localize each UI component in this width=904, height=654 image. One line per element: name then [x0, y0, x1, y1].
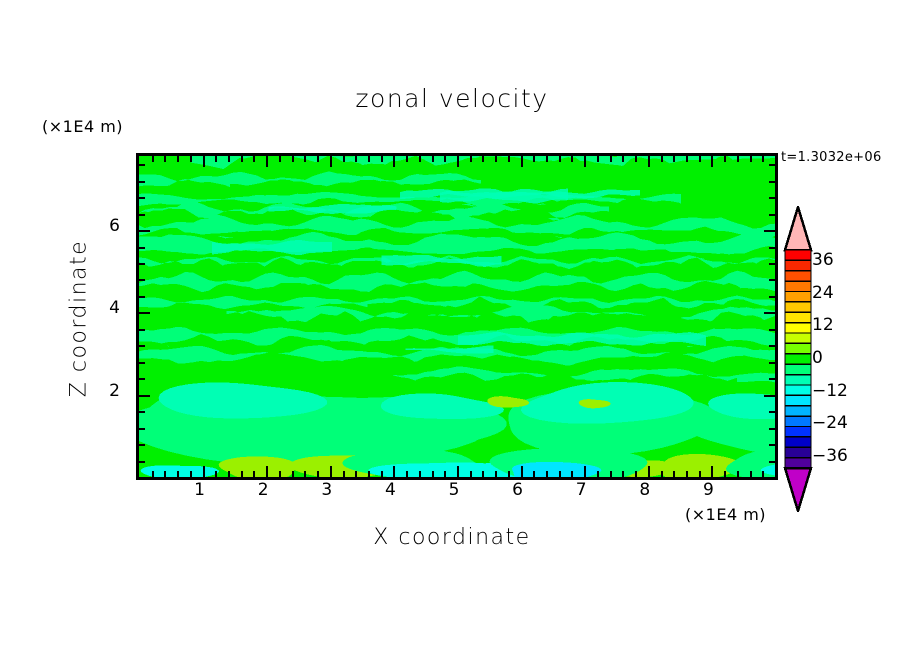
x-minor-tick-top [622, 156, 624, 162]
x-major-tick [584, 466, 586, 477]
x-minor-tick [432, 471, 434, 477]
y-minor-tick-right [769, 214, 775, 216]
y-major-tick-right [764, 312, 775, 314]
x-minor-tick [699, 471, 701, 477]
y-minor-tick-right [769, 461, 775, 463]
y-tick-label: 4 [90, 298, 120, 318]
x-major-tick [457, 466, 459, 477]
x-minor-tick-top [737, 156, 739, 162]
x-minor-tick-top [470, 156, 472, 162]
x-minor-tick-top [597, 156, 599, 162]
colorbar-tick-label: 0 [812, 348, 823, 368]
y-minor-tick [139, 362, 145, 364]
x-minor-tick-top [419, 156, 421, 162]
colorbar-swatches [782, 206, 814, 512]
y-minor-tick [139, 214, 145, 216]
y-minor-tick-right [769, 428, 775, 430]
x-minor-tick-top [444, 156, 446, 162]
x-minor-tick-top [253, 156, 255, 162]
y-minor-tick [139, 181, 145, 183]
y-minor-tick-right [769, 263, 775, 265]
x-major-tick [648, 466, 650, 477]
y-minor-tick [139, 197, 145, 199]
y-minor-tick [139, 345, 145, 347]
x-minor-tick [533, 471, 535, 477]
y-tick-label: 2 [90, 381, 120, 401]
x-minor-tick-top [152, 156, 154, 162]
colorbar-tick-label: 36 [812, 250, 834, 270]
y-major-tick [139, 312, 150, 314]
x-minor-tick [546, 471, 548, 477]
x-major-tick [711, 466, 713, 477]
y-minor-tick-right [769, 378, 775, 380]
colorbar-band [785, 312, 811, 323]
x-major-tick-top [584, 156, 586, 167]
x-tick-label: 8 [630, 480, 660, 500]
y-axis-unit-label: (×1E4 m) [42, 117, 123, 136]
x-minor-tick-top [661, 156, 663, 162]
colorbar-band [785, 406, 811, 417]
page-title: zonal velocity [0, 84, 904, 113]
y-major-tick-right [764, 395, 775, 397]
y-minor-tick [139, 329, 145, 331]
x-major-tick-top [330, 156, 332, 167]
x-minor-tick [241, 471, 243, 477]
colorbar-tick-label: −36 [812, 446, 848, 466]
colorbar-band [785, 447, 811, 458]
x-minor-tick [559, 471, 561, 477]
x-major-tick [393, 466, 395, 477]
x-major-tick-top [203, 156, 205, 167]
x-minor-tick-top [610, 156, 612, 162]
x-minor-tick [406, 471, 408, 477]
x-minor-tick-top [686, 156, 688, 162]
colorbar-tick-label: −12 [812, 381, 848, 401]
x-tick-label: 3 [312, 480, 342, 500]
x-minor-tick [381, 471, 383, 477]
x-axis-unit-label: (×1E4 m) [685, 505, 766, 524]
timestamp-annotation: t=1.3032e+06 [781, 150, 882, 165]
x-minor-tick-top [304, 156, 306, 162]
colorbar-band [785, 426, 811, 437]
x-minor-tick-top [559, 156, 561, 162]
x-minor-tick [304, 471, 306, 477]
y-minor-tick-right [769, 329, 775, 331]
y-minor-tick-right [769, 444, 775, 446]
x-minor-tick-top [432, 156, 434, 162]
y-minor-tick-right [769, 197, 775, 199]
colorbar-band [785, 292, 811, 303]
x-major-tick-top [266, 156, 268, 167]
x-minor-tick-top [368, 156, 370, 162]
y-minor-tick [139, 428, 145, 430]
x-minor-tick [482, 471, 484, 477]
colorbar-band [785, 302, 811, 313]
colorbar-band [785, 354, 811, 365]
x-minor-tick [661, 471, 663, 477]
x-minor-tick [610, 471, 612, 477]
x-minor-tick [444, 471, 446, 477]
y-minor-tick [139, 444, 145, 446]
y-minor-tick-right [769, 296, 775, 298]
contour-field [139, 156, 775, 477]
y-minor-tick [139, 263, 145, 265]
colorbar-band [785, 375, 811, 386]
x-minor-tick [762, 471, 764, 477]
x-minor-tick [419, 471, 421, 477]
plot-area [136, 153, 778, 480]
y-axis-title: Z coordinate [67, 204, 92, 434]
x-tick-label: 9 [693, 480, 723, 500]
x-major-tick-top [711, 156, 713, 167]
x-minor-tick [673, 471, 675, 477]
y-minor-tick-right [769, 411, 775, 413]
colorbar-tick-label: −24 [812, 413, 848, 433]
x-minor-tick [571, 471, 573, 477]
x-major-tick [266, 466, 268, 477]
x-minor-tick [343, 471, 345, 477]
colorbar-band [785, 333, 811, 344]
x-major-tick-top [393, 156, 395, 167]
x-minor-tick [622, 471, 624, 477]
x-minor-tick [724, 471, 726, 477]
colorbar-band [785, 260, 811, 271]
y-minor-tick [139, 164, 145, 166]
y-minor-tick-right [769, 181, 775, 183]
y-major-tick-right [764, 230, 775, 232]
x-minor-tick-top [482, 156, 484, 162]
y-minor-tick-right [769, 247, 775, 249]
y-major-tick [139, 230, 150, 232]
x-minor-tick [164, 471, 166, 477]
colorbar-tick-label: 24 [812, 283, 834, 303]
x-minor-tick [253, 471, 255, 477]
x-minor-tick-top [381, 156, 383, 162]
x-minor-tick [470, 471, 472, 477]
x-tick-label: 2 [248, 480, 278, 500]
x-minor-tick [317, 471, 319, 477]
y-minor-tick-right [769, 164, 775, 166]
x-minor-tick-top [508, 156, 510, 162]
x-minor-tick-top [495, 156, 497, 162]
y-major-tick [139, 395, 150, 397]
y-minor-tick-right [769, 279, 775, 281]
x-minor-tick-top [699, 156, 701, 162]
x-minor-tick [737, 471, 739, 477]
x-minor-tick [495, 471, 497, 477]
x-minor-tick [215, 471, 217, 477]
colorbar-band [785, 416, 811, 427]
x-minor-tick [368, 471, 370, 477]
x-minor-tick [279, 471, 281, 477]
x-tick-label: 7 [566, 480, 596, 500]
x-tick-label: 6 [503, 480, 533, 500]
x-major-tick-top [648, 156, 650, 167]
y-minor-tick-right [769, 345, 775, 347]
colorbar-band [785, 364, 811, 375]
x-minor-tick [152, 471, 154, 477]
x-minor-tick-top [673, 156, 675, 162]
figure-canvas: zonal velocity (×1E4 m) t=1.3032e+06 123… [0, 0, 904, 654]
x-minor-tick [228, 471, 230, 477]
x-minor-tick-top [762, 156, 764, 162]
y-minor-tick [139, 378, 145, 380]
x-minor-tick [190, 471, 192, 477]
x-minor-tick-top [571, 156, 573, 162]
x-minor-tick-top [355, 156, 357, 162]
x-minor-tick-top [177, 156, 179, 162]
colorbar-band [785, 343, 811, 354]
y-minor-tick [139, 296, 145, 298]
x-minor-tick-top [750, 156, 752, 162]
y-minor-tick [139, 247, 145, 249]
x-minor-tick [635, 471, 637, 477]
colorbar-band [785, 385, 811, 396]
x-major-tick [330, 466, 332, 477]
x-minor-tick-top [292, 156, 294, 162]
x-minor-tick [292, 471, 294, 477]
x-minor-tick-top [343, 156, 345, 162]
y-tick-label: 6 [90, 216, 120, 236]
colorbar-over-arrow [785, 207, 811, 250]
x-minor-tick-top [635, 156, 637, 162]
x-minor-tick-top [215, 156, 217, 162]
x-minor-tick-top [241, 156, 243, 162]
x-minor-tick [597, 471, 599, 477]
x-minor-tick [508, 471, 510, 477]
x-axis-title: X coordinate [0, 525, 904, 550]
colorbar-band [785, 323, 811, 334]
colorbar-band [785, 437, 811, 448]
colorbar-band [785, 250, 811, 261]
x-minor-tick-top [533, 156, 535, 162]
x-major-tick-top [457, 156, 459, 167]
x-minor-tick-top [317, 156, 319, 162]
x-minor-tick-top [228, 156, 230, 162]
x-tick-label: 1 [185, 480, 215, 500]
x-minor-tick-top [546, 156, 548, 162]
colorbar-band [785, 281, 811, 292]
y-minor-tick [139, 461, 145, 463]
x-minor-tick [177, 471, 179, 477]
x-major-tick [203, 466, 205, 477]
colorbar [782, 206, 814, 516]
x-minor-tick-top [279, 156, 281, 162]
colorbar-under-arrow [785, 468, 811, 511]
x-minor-tick-top [406, 156, 408, 162]
y-minor-tick [139, 279, 145, 281]
y-minor-tick [139, 411, 145, 413]
colorbar-band [785, 395, 811, 406]
x-minor-tick-top [724, 156, 726, 162]
x-major-tick-top [521, 156, 523, 167]
x-minor-tick-top [164, 156, 166, 162]
colorbar-tick-label: 12 [812, 315, 834, 335]
x-tick-label: 5 [439, 480, 469, 500]
x-minor-tick [355, 471, 357, 477]
colorbar-band [785, 271, 811, 282]
x-tick-label: 4 [375, 480, 405, 500]
x-minor-tick [750, 471, 752, 477]
x-major-tick [521, 466, 523, 477]
x-minor-tick [686, 471, 688, 477]
x-minor-tick-top [190, 156, 192, 162]
y-minor-tick-right [769, 362, 775, 364]
